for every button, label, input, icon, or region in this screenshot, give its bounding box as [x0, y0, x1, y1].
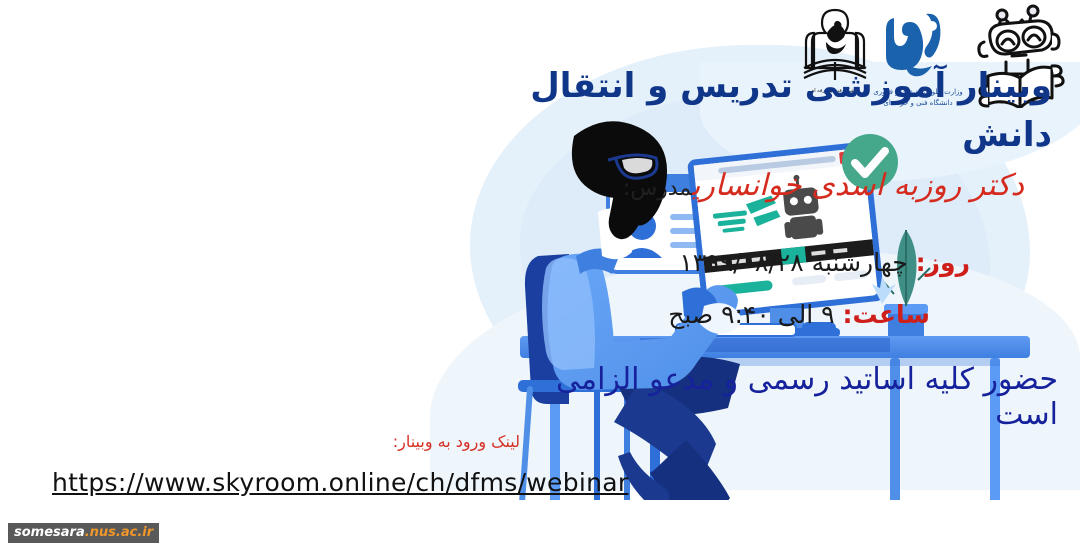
watermark-name: somesara: [14, 525, 85, 540]
webinar-poster: دانشگاه فنی و حرفه ای وزارت علوم تحقیقات…: [0, 0, 1080, 560]
page-title: وبینار آموزشی تدریس و انتقال دانش: [492, 62, 1052, 161]
attendance-notice: حضور کلیه اساتید رسمی و مدعو الزامی است: [488, 362, 1058, 432]
time-value: ۹ الی ۹:۴۰ صبح: [668, 300, 834, 329]
day-label: روز:: [916, 248, 970, 277]
instructor-name: دکتر روزبه اسدی خوانساری: [692, 168, 1024, 203]
instructor-line: دکتر روزبه اسدی خوانساریمدرس:: [554, 168, 1024, 203]
webinar-link-url[interactable]: https://www.skyroom.online/ch/dfms/webin…: [52, 468, 628, 497]
day-line: روز: چهارشنبه ۱۳۹۹/۰۸/۲۸: [580, 248, 970, 277]
time-line: ساعت: ۹ الی ۹:۴۰ صبح: [580, 300, 930, 329]
webinar-link-label: لینک ورود به وبینار:: [393, 432, 520, 451]
site-watermark: somesara.nus.ac.ir: [8, 523, 159, 543]
instructor-label: مدرس:: [623, 176, 692, 201]
time-label: ساعت:: [842, 300, 930, 329]
watermark-domain: .nus.ac.ir: [85, 525, 153, 540]
day-value: چهارشنبه ۱۳۹۹/۰۸/۲۸: [679, 248, 907, 277]
